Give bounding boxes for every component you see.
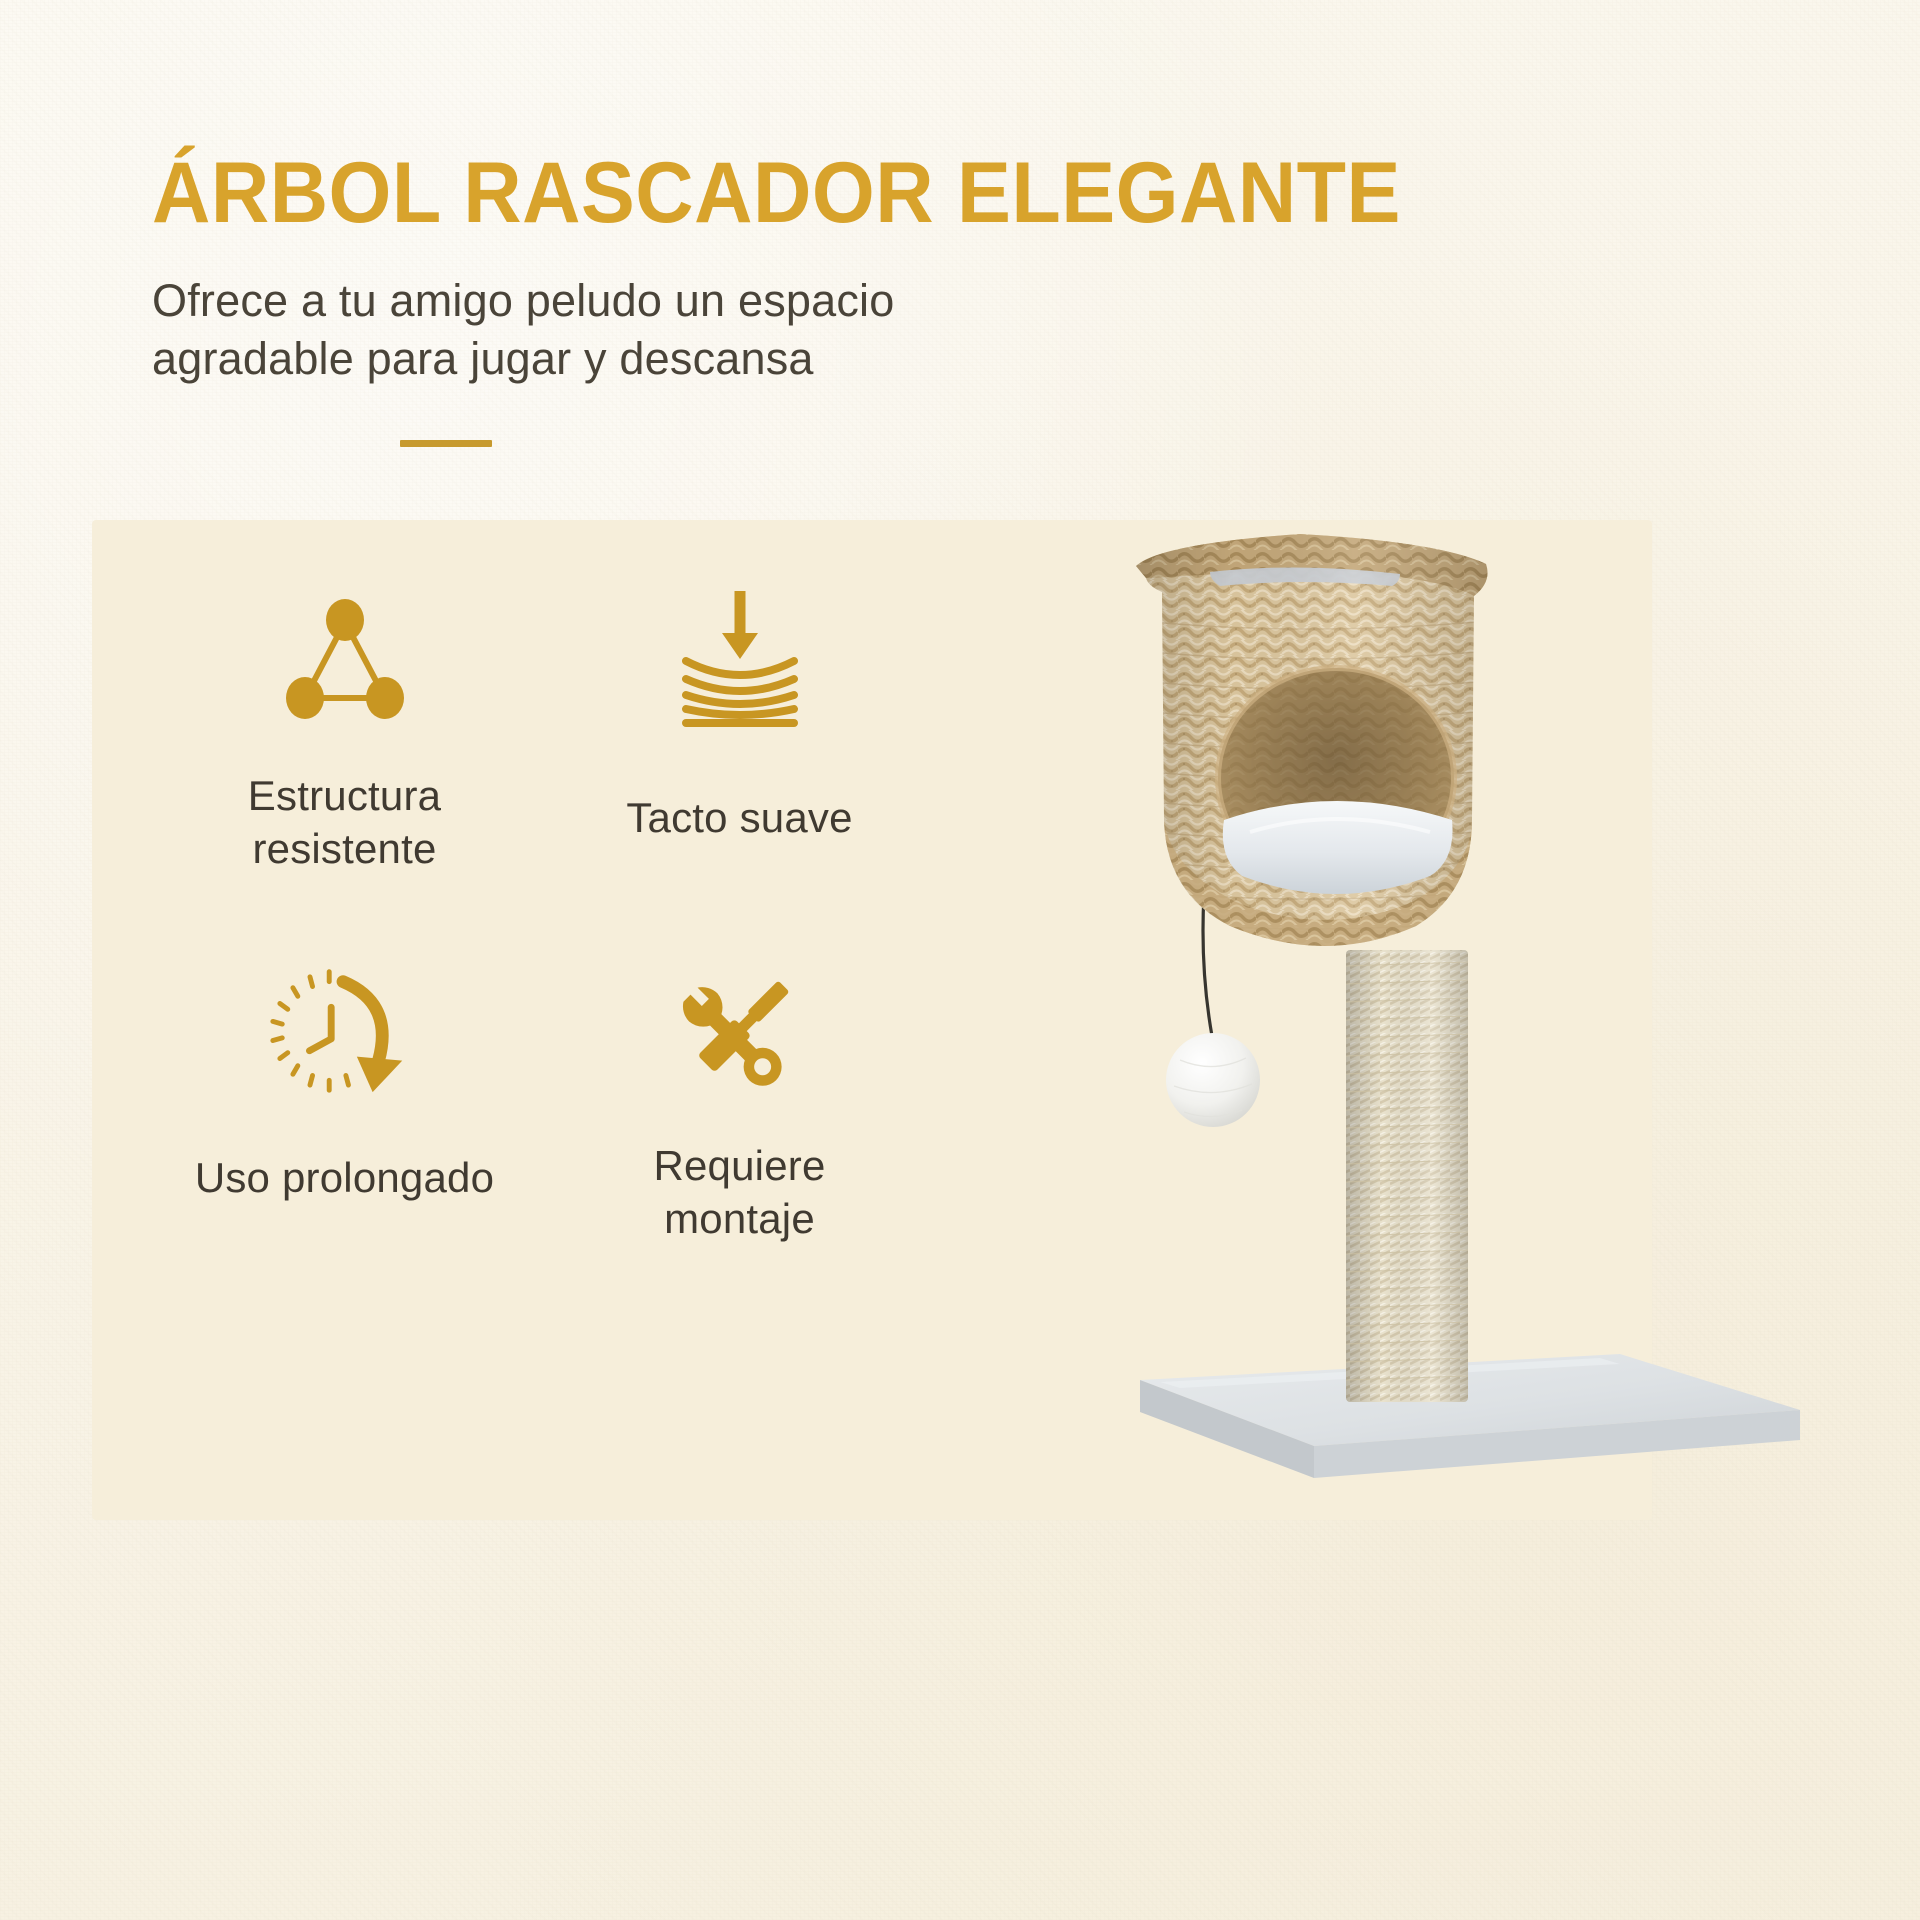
wrench-screwdriver-icon bbox=[665, 960, 815, 1100]
triangle-nodes-icon bbox=[270, 590, 420, 730]
feature-item-soft-touch: Tacto suave bbox=[547, 568, 932, 908]
feature-item-sturdy-structure: Estructura resistente bbox=[152, 568, 537, 908]
feature-grid: Estructura resistente bbox=[152, 568, 1032, 1278]
feature-label: Requiere montaje bbox=[653, 1140, 825, 1245]
product-feature-banner: ÁRBOL RASCADOR ELEGANTE Ofrece a tu amig… bbox=[0, 0, 1920, 1920]
page-subtitle: Ofrece a tu amigo peludo un espacio agra… bbox=[152, 272, 1182, 387]
page-title: ÁRBOL RASCADOR ELEGANTE bbox=[152, 150, 1487, 236]
feature-item-assembly-required: Requiere montaje bbox=[547, 938, 932, 1278]
subtitle-line-2: agradable para jugar y descansa bbox=[152, 330, 1182, 388]
feature-label: Tacto suave bbox=[626, 792, 852, 845]
subtitle-line-1: Ofrece a tu amigo peludo un espacio bbox=[152, 272, 1182, 330]
soft-layers-arrow-icon bbox=[665, 590, 815, 730]
clock-arrow-icon bbox=[270, 960, 420, 1100]
feature-item-long-lasting: Uso prolongado bbox=[152, 938, 537, 1278]
headline-block: ÁRBOL RASCADOR ELEGANTE Ofrece a tu amig… bbox=[152, 150, 1572, 387]
feature-label: Estructura resistente bbox=[248, 770, 441, 875]
feature-label: Uso prolongado bbox=[195, 1152, 494, 1205]
accent-divider bbox=[400, 440, 492, 447]
feature-panel: Estructura resistente bbox=[92, 520, 1652, 1520]
